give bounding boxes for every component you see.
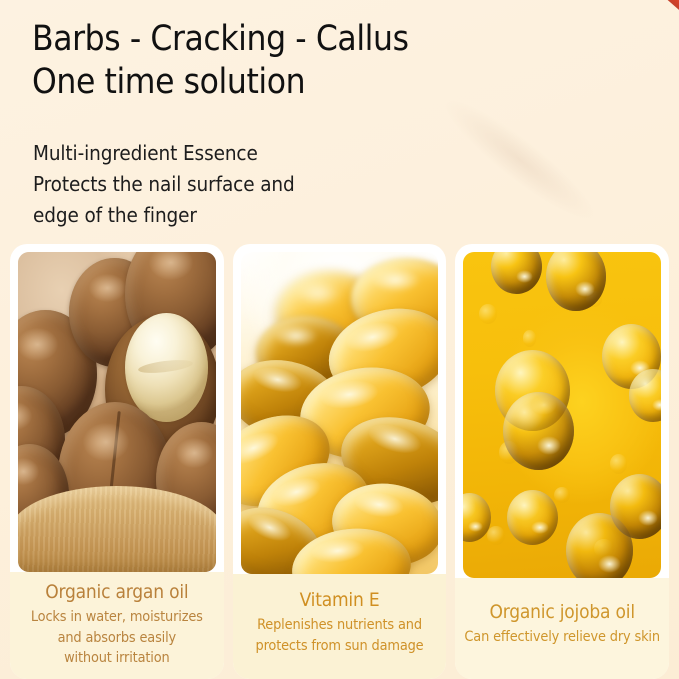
jojoba-oil-caption: Organic jojoba oil Can effectively relie… — [455, 578, 669, 679]
ingredient-title: Vitamin E — [239, 588, 441, 613]
ingredient-desc-line-2: protects from sun damage — [239, 636, 441, 657]
pen-graphic — [466, 0, 679, 45]
argan-oil-caption: Organic argan oil Locks in water, moistu… — [10, 572, 224, 679]
macadamia-nuts-image — [18, 252, 216, 572]
jojoba-oil-photo — [463, 252, 661, 578]
pen-barrel — [601, 0, 679, 61]
headline-line-1: Barbs - Cracking - Callus — [32, 19, 409, 59]
vitamin-e-caption: Vitamin E Replenishes nutrients and prot… — [233, 574, 447, 679]
ingredient-card-argan-oil[interactable]: Organic argan oil Locks in water, moistu… — [10, 244, 224, 679]
ingredient-card-vitamin-e[interactable]: Vitamin E Replenishes nutrients and prot… — [233, 244, 447, 679]
ingredient-cards-row: Organic argan oil Locks in water, moistu… — [0, 244, 679, 679]
product-image-cuticle-oil-pen — [385, 0, 679, 220]
ingredient-title: Organic jojoba oil — [461, 600, 663, 625]
oil-bubbles-image — [463, 252, 661, 578]
softgel-capsules-image — [241, 252, 439, 574]
vitamin-e-photo — [241, 252, 439, 574]
product-shadow — [433, 86, 607, 234]
ingredient-title: Organic argan oil — [16, 580, 218, 605]
product-marketing-poster: Barbs - Cracking - Callus One time solut… — [0, 0, 679, 679]
ingredient-desc-line-1: Replenishes nutrients and — [239, 615, 441, 636]
pen-label-print — [622, 0, 679, 52]
ingredient-desc-line-1: Can effectively relieve dry skin — [461, 627, 663, 648]
ingredient-card-jojoba-oil[interactable]: Organic jojoba oil Can effectively relie… — [455, 244, 669, 679]
ingredient-desc-line-2: and absorbs easily — [16, 628, 218, 649]
wooden-bowl — [18, 486, 216, 572]
argan-oil-photo — [18, 252, 216, 572]
ingredient-desc-line-1: Locks in water, moisturizes — [16, 607, 218, 628]
header-section: Barbs - Cracking - Callus One time solut… — [0, 0, 679, 244]
ingredient-desc-line-3: without irritation — [16, 648, 218, 669]
